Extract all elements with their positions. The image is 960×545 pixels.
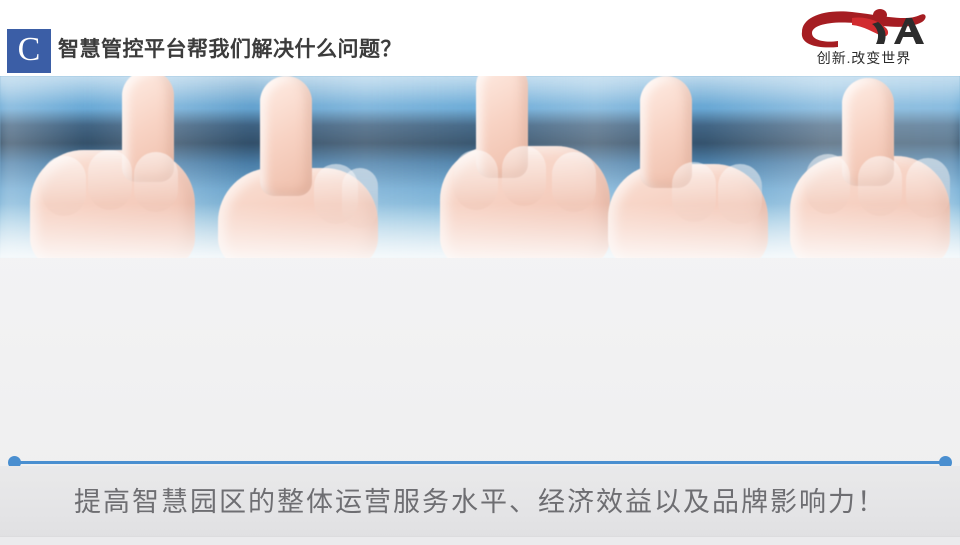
section-letter: C (18, 33, 41, 67)
company-logo: 创新.改变世界 (788, 6, 940, 70)
slide-root: C 智慧管控平台帮我们解决什么问题？ 创新.改变世界 (0, 0, 960, 545)
photo-bottom-fade (0, 76, 960, 258)
footer-statement: 提高智慧园区的整体运营服务水平、经济效益以及品牌影响力！ (0, 480, 960, 519)
footer-divider (14, 461, 946, 464)
slide-header: C 智慧管控平台帮我们解决什么问题？ 创新.改变世界 (0, 0, 960, 76)
logo-tagline: 创新.改变世界 (788, 48, 940, 68)
cia-logo-mark-icon (794, 6, 934, 48)
section-letter-badge: C (7, 29, 51, 73)
benefits-section: 高效运维 通过实时数据采集，更加高效的获取实时信息，随时查看各设备状况、随时管理… (0, 258, 960, 448)
footer-banner: 提高智慧园区的整体运营服务水平、经济效益以及品牌影响力！ (0, 466, 960, 545)
page-title: 智慧管控平台帮我们解决什么问题？ (58, 33, 402, 63)
thumbs-up-hands-photo (0, 76, 960, 258)
footer-bottom-strip (0, 536, 960, 545)
